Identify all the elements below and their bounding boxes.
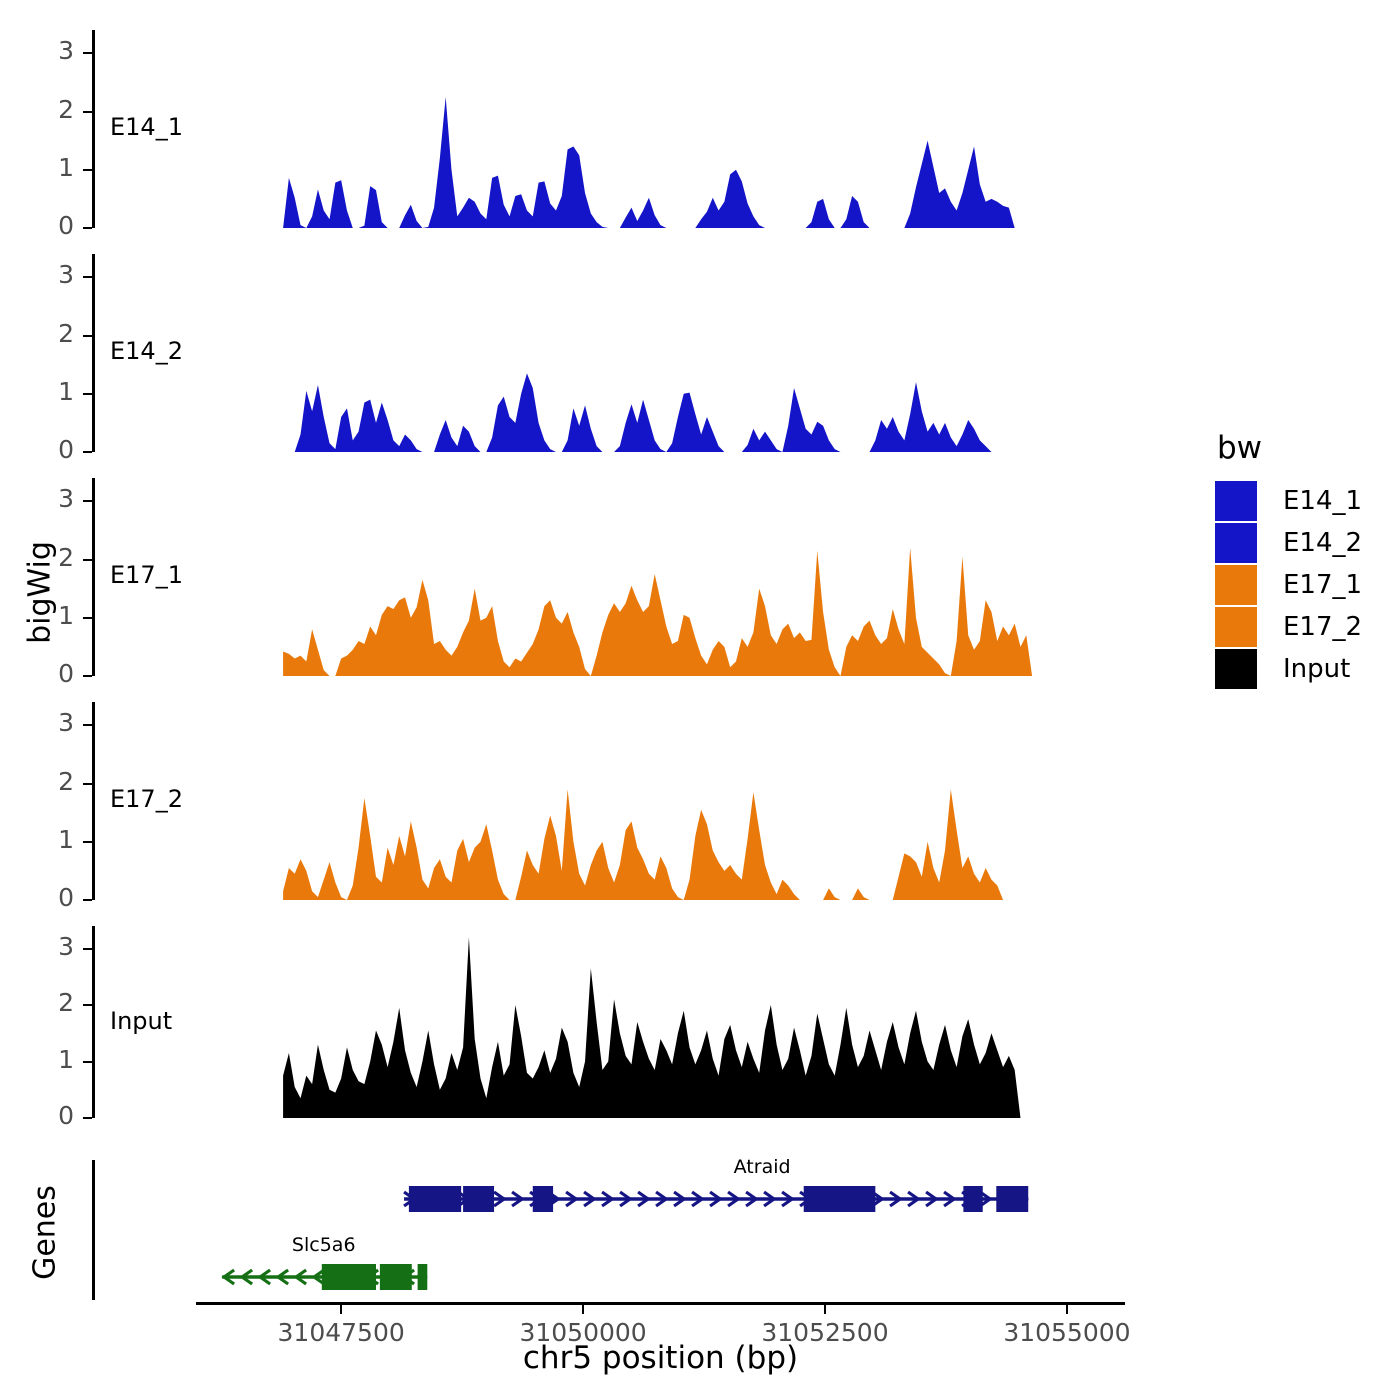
legend-swatch-e14_1 [1215, 481, 1257, 521]
y-axis-line [92, 926, 95, 1118]
y-tick-label: 2 [22, 988, 74, 1017]
legend-label: E17_1 [1283, 570, 1362, 600]
y-tick [83, 1004, 92, 1006]
legend-title: bw [1217, 430, 1362, 466]
legend-label: E14_2 [1283, 528, 1362, 558]
legend: bw E14_1E14_2E17_1E17_2Input [1215, 430, 1362, 690]
track-area-input [0, 0, 1400, 1400]
legend-swatch-input [1215, 649, 1257, 689]
x-tick [824, 1305, 826, 1314]
track-panel-input: 0123Input [0, 0, 1400, 1400]
y-tick [83, 1061, 92, 1063]
legend-item-e17_1[interactable]: E17_1 [1215, 564, 1362, 606]
x-axis-title: chr5 position (bp) [196, 1340, 1125, 1376]
legend-items: E14_1E14_2E17_1E17_2Input [1215, 480, 1362, 690]
legend-swatch-e17_1 [1215, 565, 1257, 605]
legend-item-input[interactable]: Input [1215, 648, 1362, 690]
track-label-input: Input [110, 1007, 172, 1035]
gene-label-atraid: Atraid [672, 1156, 852, 1178]
legend-label: E17_2 [1283, 612, 1362, 642]
legend-swatch-e14_2 [1215, 523, 1257, 563]
legend-label: Input [1283, 654, 1350, 684]
legend-label: E14_1 [1283, 486, 1362, 516]
x-axis-line [196, 1302, 1125, 1305]
x-tick [1066, 1305, 1068, 1314]
gene-label-slc5a6: Slc5a6 [234, 1234, 414, 1256]
genes-axis-line [92, 1160, 95, 1300]
legend-item-e17_2[interactable]: E17_2 [1215, 606, 1362, 648]
legend-swatch-e17_2 [1215, 607, 1257, 647]
y-tick [83, 948, 92, 950]
y-tick-label: 1 [22, 1045, 74, 1074]
x-tick [582, 1305, 584, 1314]
y-tick [83, 1117, 92, 1119]
genome-browser-figure: bigWig Genes 0123E14_10123E14_20123E17_1… [0, 0, 1400, 1400]
x-tick [340, 1305, 342, 1314]
y-tick-label: 3 [22, 932, 74, 961]
y-tick-label: 0 [22, 1101, 74, 1130]
legend-item-e14_1[interactable]: E14_1 [1215, 480, 1362, 522]
legend-item-e14_2[interactable]: E14_2 [1215, 522, 1362, 564]
